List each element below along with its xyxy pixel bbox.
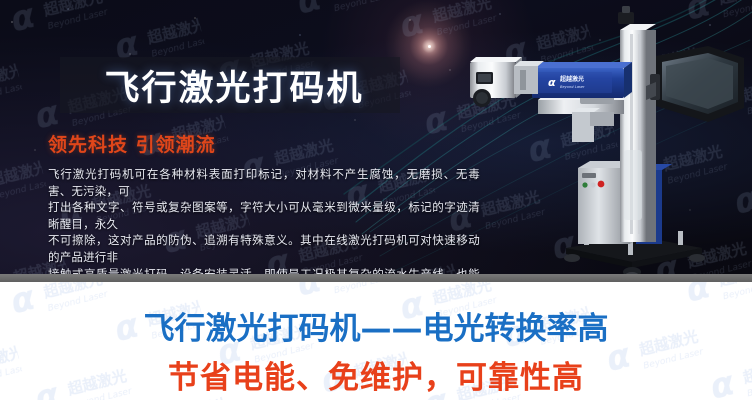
vertical-column xyxy=(618,6,656,242)
description-line-3: 不可擦除，这对产品的防伪、追溯有特殊意义。其中在线激光打码机可对快速移动的产品进… xyxy=(48,232,480,265)
svg-text:α: α xyxy=(548,76,556,89)
laser-marking-machine-image: α 超越激光 Beyond Laser xyxy=(450,0,752,274)
hero-subtitle: 领先科技 引领潮流 xyxy=(48,130,216,157)
description-line-1: 飞行激光打码机可在各种材料表面打印标记，对材料不产生腐蚀，无磨损、无毒害、无污染… xyxy=(48,166,480,199)
tagline-line-1: 飞行激光打码机——电光转换率高 xyxy=(0,303,752,348)
svg-text:Beyond Laser: Beyond Laser xyxy=(560,85,585,89)
page-title: 飞行激光打码机 xyxy=(76,58,392,112)
description-line-2: 打出各种文字、符号或复杂图案等，字符大小可从毫米到微米量级，标记的字迹清晰醒目，… xyxy=(48,199,480,232)
svg-text:超越激光: 超越激光 xyxy=(559,75,584,83)
laser-head xyxy=(470,57,544,107)
section-divider xyxy=(0,274,752,282)
touchscreen-monitor xyxy=(646,46,744,122)
laser-housing: α 超越激光 Beyond Laser xyxy=(532,62,632,98)
tagline-line-2: 节省电能、免维护，可靠性高 xyxy=(0,352,752,397)
promo-banner: α 超越激光 Beyond Laser α 超越激光 Beyond Laser xyxy=(0,0,752,400)
